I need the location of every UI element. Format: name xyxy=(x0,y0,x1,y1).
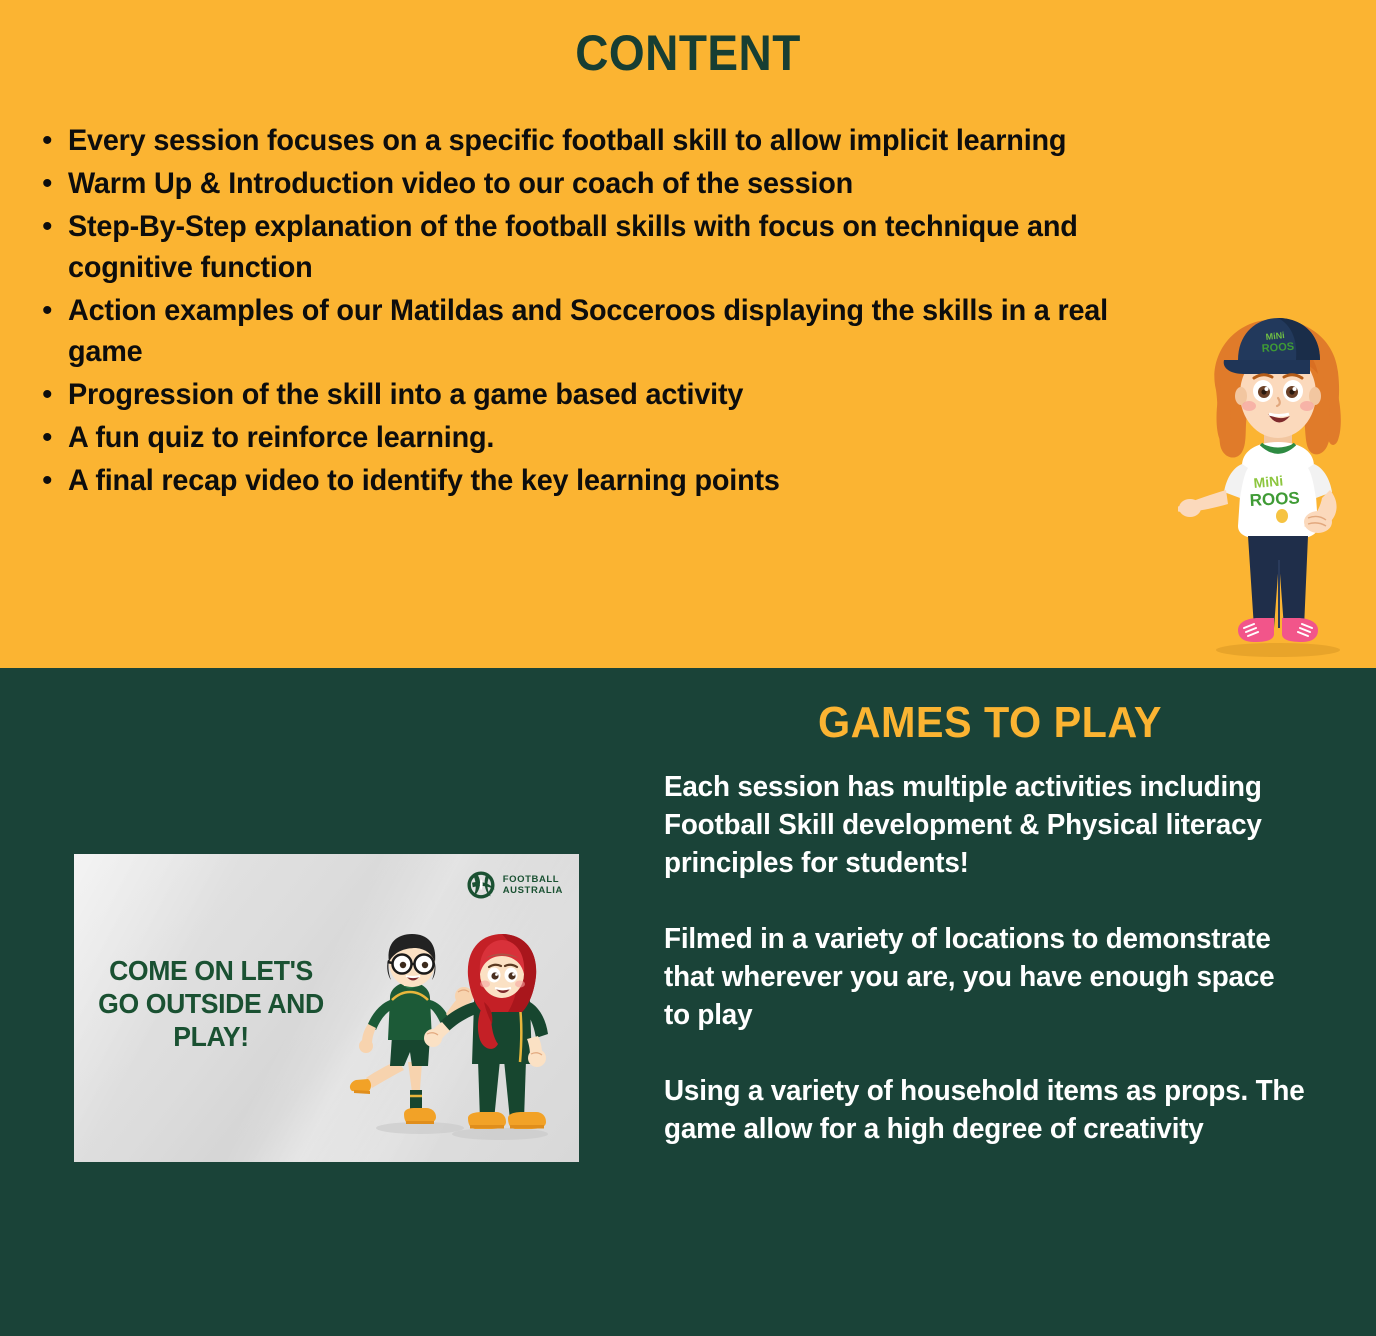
list-item-label: Step-By-Step explanation of the football… xyxy=(68,206,1178,288)
card-headline: COME ON LET'S GO OUTSIDE AND PLAY! xyxy=(92,954,330,1053)
games-body-text: Each session has multiple activities inc… xyxy=(664,768,1334,1148)
games-paragraph: Filmed in a variety of locations to demo… xyxy=(664,920,1307,1034)
list-item-label: Warm Up & Introduction video to our coac… xyxy=(68,163,1178,204)
logo-line-2: AUSTRALIA xyxy=(503,885,563,896)
svg-text:ROOS: ROOS xyxy=(1249,488,1300,510)
bullet-icon: • xyxy=(34,163,68,204)
two-kids-playing-football-illustration-icon xyxy=(342,932,564,1147)
bullet-icon: • xyxy=(34,120,68,161)
video-promo-card[interactable]: FOOTBALL AUSTRALIA COME ON LET'S GO OUTS… xyxy=(74,854,579,1162)
mini-roos-girl-character-icon: MiNi ROOS xyxy=(1178,298,1376,658)
list-item: • Action examples of our Matildas and So… xyxy=(34,290,1224,372)
svg-text:ROOS: ROOS xyxy=(1261,341,1294,355)
games-paragraph: Using a variety of household items as pr… xyxy=(664,1072,1307,1148)
list-item-label: A final recap video to identify the key … xyxy=(68,460,1178,501)
games-paragraph: Each session has multiple activities inc… xyxy=(664,768,1307,882)
page-title: CONTENT xyxy=(55,24,1321,82)
list-item: • A final recap video to identify the ke… xyxy=(34,460,1224,501)
svg-text:MiNi: MiNi xyxy=(1253,472,1284,491)
games-section: GAMES TO PLAY Each session has multiple … xyxy=(0,668,1376,1336)
list-item: • A fun quiz to reinforce learning. xyxy=(34,417,1224,458)
football-australia-logo: FOOTBALL AUSTRALIA xyxy=(466,870,563,900)
svg-text:MiNi: MiNi xyxy=(1265,330,1285,342)
content-section: CONTENT • Every session focuses on a spe… xyxy=(0,0,1376,668)
football-australia-mark-icon xyxy=(466,870,496,900)
slide-root: CONTENT • Every session focuses on a spe… xyxy=(0,0,1376,1336)
bullet-icon: • xyxy=(34,460,68,501)
games-section-title: GAMES TO PLAY xyxy=(680,698,1300,748)
list-item: • Progression of the skill into a game b… xyxy=(34,374,1224,415)
list-item-label: Progression of the skill into a game bas… xyxy=(68,374,1178,415)
list-item: • Warm Up & Introduction video to our co… xyxy=(34,163,1224,204)
list-item-label: A fun quiz to reinforce learning. xyxy=(68,417,1178,458)
list-item: • Step-By-Step explanation of the footba… xyxy=(34,206,1224,288)
bullet-icon: • xyxy=(34,417,68,458)
logo-line-1: FOOTBALL xyxy=(503,874,563,885)
list-item-label: Action examples of our Matildas and Socc… xyxy=(68,290,1178,372)
football-australia-logo-text: FOOTBALL AUSTRALIA xyxy=(503,874,563,896)
list-item: • Every session focuses on a specific fo… xyxy=(34,120,1224,161)
bullet-icon: • xyxy=(34,290,68,331)
content-bullet-list: • Every session focuses on a specific fo… xyxy=(34,120,1224,503)
bullet-icon: • xyxy=(34,206,68,247)
bullet-icon: • xyxy=(34,374,68,415)
list-item-label: Every session focuses on a specific foot… xyxy=(68,120,1178,161)
